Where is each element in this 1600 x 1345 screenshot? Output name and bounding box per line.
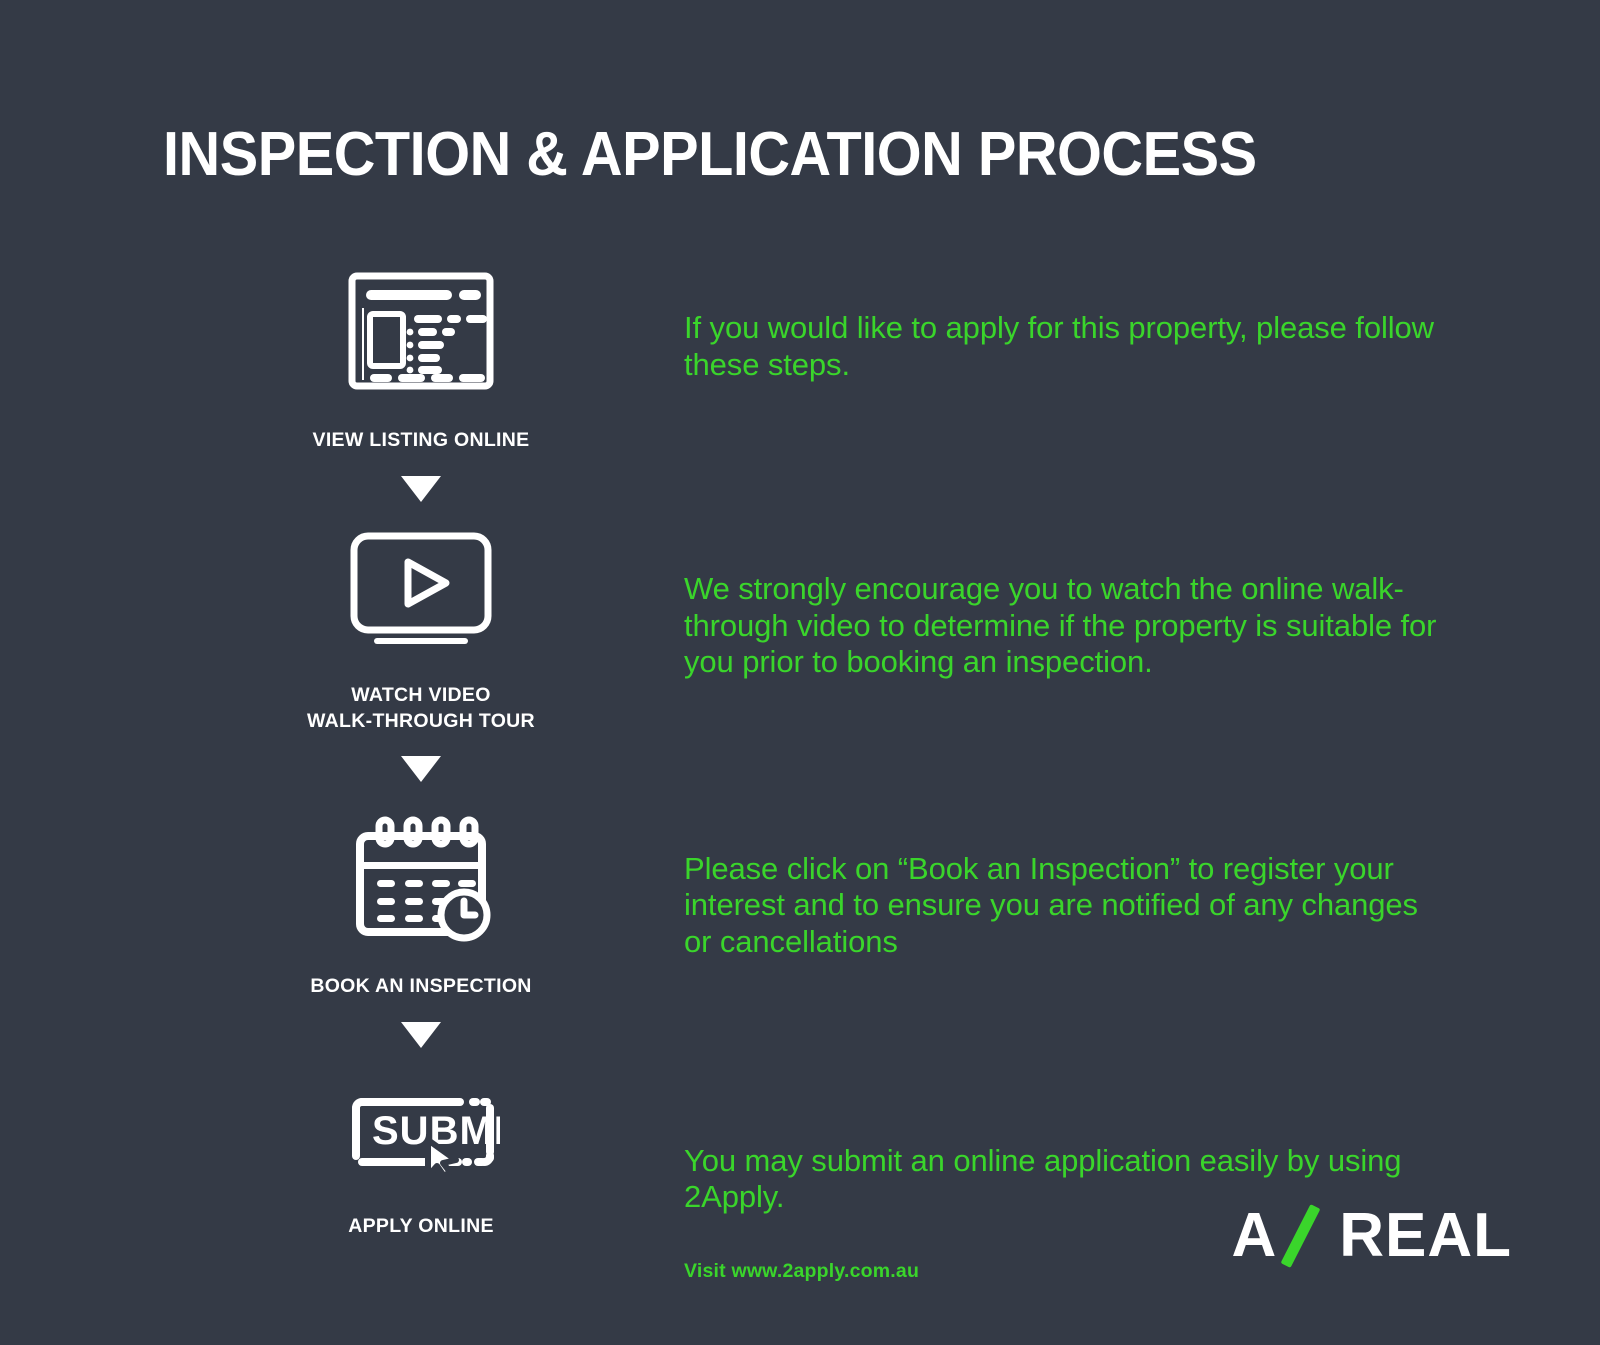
step-label-line-1: WATCH VIDEO <box>276 683 566 709</box>
logo-letter-a: A <box>1231 1205 1277 1267</box>
browser-listing-icon <box>276 262 566 392</box>
step-book-inspection[interactable]: BOOK AN INSPECTION <box>276 804 566 1000</box>
logo-word-real: REAL <box>1339 1205 1512 1267</box>
step-label-line-2: WALK-THROUGH TOUR <box>276 709 566 735</box>
step-label-book-inspection: BOOK AN INSPECTION <box>276 974 566 1000</box>
step-apply-online[interactable]: SUBMIT APPLY ONLINE <box>276 1072 566 1240</box>
step-view-listing-online[interactable]: VIEW LISTING ONLINE <box>276 262 566 454</box>
page-title: INSPECTION & APPLICATION PROCESS <box>163 122 1353 187</box>
step-label-view-listing-online: VIEW LISTING ONLINE <box>276 428 566 454</box>
slash-mark-icon <box>1277 1205 1335 1267</box>
down-triangle-icon <box>401 476 441 502</box>
step-label-watch-video: WATCH VIDEO WALK-THROUGH TOUR <box>276 683 566 735</box>
infographic-page: INSPECTION & APPLICATION PROCESS <box>0 0 1600 1345</box>
flow-arrow-2 <box>276 756 566 782</box>
paragraph-intro: If you would like to apply for this prop… <box>684 310 1444 383</box>
paragraph-video: We strongly encourage you to watch the o… <box>684 571 1444 681</box>
step-label-line: APPLY ONLINE <box>348 1215 494 1237</box>
calendar-clock-icon <box>276 804 566 942</box>
steps-column: VIEW LISTING ONLINE WATCH VIDEO WALK-THR… <box>276 262 566 1240</box>
flow-arrow-3 <box>276 1022 566 1048</box>
step-label-line: VIEW LISTING ONLINE <box>313 429 530 451</box>
down-triangle-icon <box>401 756 441 782</box>
brand-logo: A REAL <box>1231 1205 1512 1267</box>
copy-column: If you would like to apply for this prop… <box>684 262 1444 1283</box>
step-label-apply-online: APPLY ONLINE <box>276 1214 566 1240</box>
down-triangle-icon <box>401 1022 441 1048</box>
paragraph-inspection: Please click on “Book an Inspection” to … <box>684 851 1444 961</box>
step-label-line: BOOK AN INSPECTION <box>310 975 531 997</box>
step-watch-video[interactable]: WATCH VIDEO WALK-THROUGH TOUR <box>276 526 566 735</box>
flow-arrow-1 <box>276 476 566 502</box>
submit-button-cursor-icon: SUBMIT <box>276 1072 566 1176</box>
video-player-icon <box>276 526 566 648</box>
